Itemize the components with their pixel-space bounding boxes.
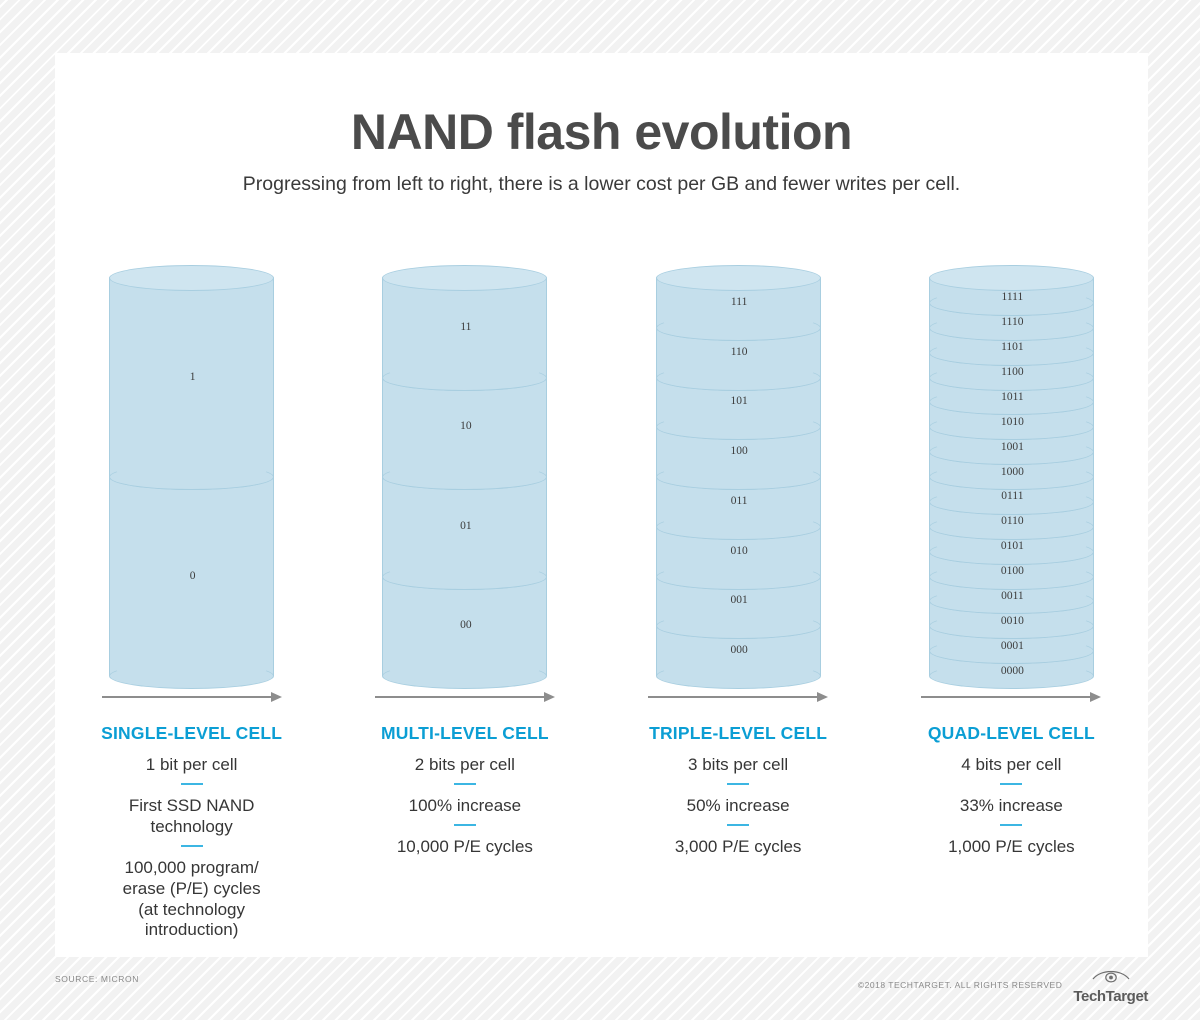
- column-title: QUAD-LEVEL CELL: [893, 723, 1129, 744]
- arrow-shaft: [375, 696, 545, 698]
- segment-label: 01: [383, 520, 548, 532]
- page-subtitle: Progressing from left to right, there is…: [55, 173, 1148, 196]
- segment-label: 010: [657, 545, 822, 557]
- segment-label: 1101: [930, 341, 1095, 353]
- segment-label: 1100: [930, 366, 1095, 378]
- column-detail-line: 3 bits per cell: [620, 755, 856, 776]
- segment-label: 110: [657, 346, 822, 358]
- cell-level-segment: 01: [382, 477, 547, 577]
- header: NAND flash evolution Progressing from le…: [55, 53, 1148, 196]
- cell-level-segment: 111: [656, 278, 821, 328]
- caption-divider: [1000, 783, 1022, 786]
- column-detail-line: 10,000 P/E cycles: [347, 837, 583, 858]
- source-label: SOURCE: MICRON: [55, 974, 139, 984]
- cell-level-segment: 0: [109, 477, 274, 676]
- segment-cap: [929, 265, 1094, 291]
- cell-level-segment: 1: [109, 278, 274, 477]
- segment-label: 0000: [930, 665, 1095, 677]
- segment-base: [656, 564, 821, 590]
- cell-stack: 10: [109, 278, 274, 676]
- segment-base: [382, 663, 547, 689]
- caption-divider: [454, 783, 476, 786]
- column-detail-line: 50% increase: [620, 796, 856, 817]
- column-title: TRIPLE-LEVEL CELL: [620, 723, 856, 744]
- segment-base: [382, 365, 547, 391]
- segment-label: 0010: [930, 615, 1095, 627]
- cell-stack: 11100100: [382, 278, 547, 676]
- segment-base: [656, 315, 821, 341]
- column-detail-line: 33% increase: [893, 796, 1129, 817]
- column-caption: QUAD-LEVEL CELL4 bits per cell33% increa…: [893, 723, 1129, 858]
- techtarget-wordmark: TechTarget: [1073, 989, 1148, 1004]
- arrow-head: [544, 692, 555, 702]
- segment-label: 0110: [930, 515, 1095, 527]
- cell-level-segment: 11: [382, 278, 547, 378]
- progress-arrow-icon: [648, 690, 828, 704]
- cell-column-1: 10SINGLE-LEVEL CELL1 bit per cellFirst S…: [70, 278, 313, 941]
- column-detail-line: 1,000 P/E cycles: [893, 837, 1129, 858]
- arrow-shaft: [648, 696, 818, 698]
- eye-icon: [1091, 968, 1131, 988]
- segment-label: 10: [383, 420, 548, 432]
- segment-label: 1000: [930, 466, 1095, 478]
- segment-label: 0011: [930, 590, 1095, 602]
- cell-level-segment: 10: [382, 378, 547, 478]
- caption-divider: [181, 845, 203, 848]
- caption-divider: [727, 824, 749, 827]
- cell-level-segment: 00: [382, 577, 547, 677]
- segment-label: 00: [383, 619, 548, 631]
- column-detail-line: 2 bits per cell: [347, 755, 583, 776]
- segment-label: 1010: [930, 416, 1095, 428]
- segment-label: 1111: [930, 291, 1095, 303]
- caption-divider: [454, 824, 476, 827]
- segment-base: [109, 663, 274, 689]
- segment-base: [656, 365, 821, 391]
- cell-column-3: 111110101100011010001000TRIPLE-LEVEL CEL…: [617, 278, 860, 858]
- segment-base: [656, 514, 821, 540]
- segment-label: 1: [110, 371, 275, 383]
- caption-divider: [181, 783, 203, 786]
- arrow-head: [271, 692, 282, 702]
- footer-right: ©2018 TECHTARGET. ALL RIGHTS RESERVED Te…: [858, 968, 1148, 1004]
- column-caption: SINGLE-LEVEL CELL1 bit per cellFirst SSD…: [74, 723, 310, 941]
- techtarget-logo: TechTarget: [1073, 968, 1148, 1004]
- segment-label: 1001: [930, 441, 1095, 453]
- segment-label: 0001: [930, 640, 1095, 652]
- segment-label: 101: [657, 395, 822, 407]
- arrow-shaft: [921, 696, 1091, 698]
- segment-label: 0: [110, 570, 275, 582]
- segment-label: 111: [657, 296, 822, 308]
- segment-label: 0101: [930, 540, 1095, 552]
- segment-base: [656, 464, 821, 490]
- segment-label: 011: [657, 495, 822, 507]
- caption-divider: [1000, 824, 1022, 827]
- segment-base: [656, 663, 821, 689]
- arrow-shaft: [102, 696, 272, 698]
- segment-label: 001: [657, 594, 822, 606]
- column-detail-line: 4 bits per cell: [893, 755, 1129, 776]
- cell-column-4: 1111111011011100101110101001100001110110…: [890, 278, 1133, 858]
- segment-cap: [109, 265, 274, 291]
- footer: SOURCE: MICRON ©2018 TECHTARGET. ALL RIG…: [0, 968, 1200, 1008]
- column-title: MULTI-LEVEL CELL: [347, 723, 583, 744]
- segment-label: 1011: [930, 391, 1095, 403]
- segment-label: 0111: [930, 490, 1095, 502]
- column-detail-line: 3,000 P/E cycles: [620, 837, 856, 858]
- cell-stack: 111110101100011010001000: [656, 278, 821, 676]
- segment-label: 11: [383, 321, 548, 333]
- arrow-head: [1090, 692, 1101, 702]
- column-detail-line: 100,000 program/erase (P/E) cycles(at te…: [74, 858, 310, 941]
- column-detail-line: 100% increase: [347, 796, 583, 817]
- column-title: SINGLE-LEVEL CELL: [74, 723, 310, 744]
- segment-label: 100: [657, 445, 822, 457]
- column-detail-line: 1 bit per cell: [74, 755, 310, 776]
- cell-column-2: 11100100MULTI-LEVEL CELL2 bits per cell1…: [343, 278, 586, 858]
- progress-arrow-icon: [921, 690, 1101, 704]
- segment-cap: [656, 265, 821, 291]
- segment-label: 1110: [930, 316, 1095, 328]
- infographic-card: NAND flash evolution Progressing from le…: [55, 53, 1148, 957]
- segment-cap: [382, 265, 547, 291]
- segment-base: [382, 564, 547, 590]
- segment-label: 000: [657, 644, 822, 656]
- column-caption: MULTI-LEVEL CELL2 bits per cell100% incr…: [347, 723, 583, 858]
- column-caption: TRIPLE-LEVEL CELL3 bits per cell50% incr…: [620, 723, 856, 858]
- caption-divider: [727, 783, 749, 786]
- segment-base: [109, 464, 274, 490]
- progress-arrow-icon: [375, 690, 555, 704]
- cell-stack: 1111111011011100101110101001100001110110…: [929, 278, 1094, 676]
- segment-label: 0100: [930, 565, 1095, 577]
- columns-container: 10SINGLE-LEVEL CELL1 bit per cellFirst S…: [55, 278, 1148, 941]
- progress-arrow-icon: [102, 690, 282, 704]
- copyright-label: ©2018 TECHTARGET. ALL RIGHTS RESERVED: [858, 980, 1062, 992]
- arrow-head: [817, 692, 828, 702]
- page-title: NAND flash evolution: [55, 105, 1148, 159]
- column-detail-line: First SSD NANDtechnology: [74, 796, 310, 837]
- segment-base: [382, 464, 547, 490]
- cell-level-segment: 1111: [929, 278, 1094, 303]
